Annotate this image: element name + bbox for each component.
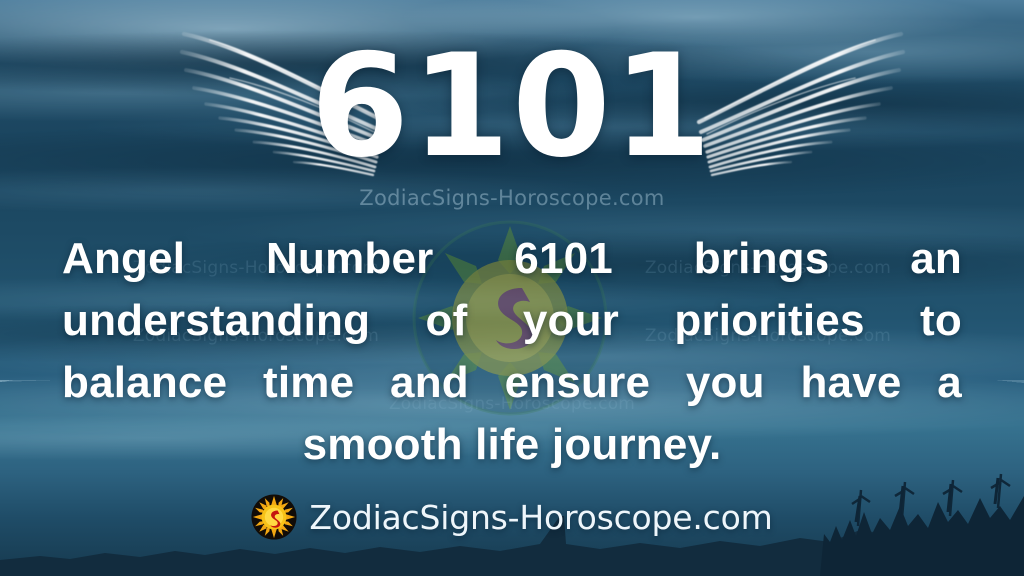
message-word: time — [263, 352, 354, 414]
message-word: balance — [62, 352, 227, 414]
message-word: of — [426, 290, 468, 352]
title-watermark-text: ZodiacSigns-Horoscope.com — [0, 186, 1024, 210]
message-word: 6101 — [514, 228, 613, 290]
message-word: you — [686, 352, 765, 414]
footer-brand[interactable]: ZodiacSigns-Horoscope.com — [0, 494, 1024, 540]
message-word: understanding — [62, 290, 370, 352]
message-word: an — [910, 228, 962, 290]
message-line: understanding of your priorities to — [62, 290, 962, 352]
message-word: Number — [266, 228, 433, 290]
zodiac-sun-logo-icon — [251, 494, 297, 540]
message-body: Angel Number 6101 brings an understandin… — [62, 228, 962, 476]
message-word: and — [390, 352, 469, 414]
message-line: smooth life journey. — [62, 414, 962, 476]
message-word: a — [937, 352, 962, 414]
message-word: your — [523, 290, 619, 352]
message-word: to — [920, 290, 962, 352]
message-word: priorities — [674, 290, 864, 352]
message-word: have — [800, 352, 901, 414]
message-word: brings — [694, 228, 830, 290]
angel-number-graphic: ZodiacSigns-Horoscope.com ZodiacSigns-Ho… — [0, 0, 1024, 576]
message-word: Angel — [62, 228, 185, 290]
message-line: balance time and ensure you have a — [62, 352, 962, 414]
message-word: ensure — [505, 352, 651, 414]
message-line: Angel Number 6101 brings an — [62, 228, 962, 290]
footer-brand-text: ZodiacSigns-Horoscope.com — [309, 498, 772, 537]
page-title: 6101 — [0, 36, 1024, 178]
